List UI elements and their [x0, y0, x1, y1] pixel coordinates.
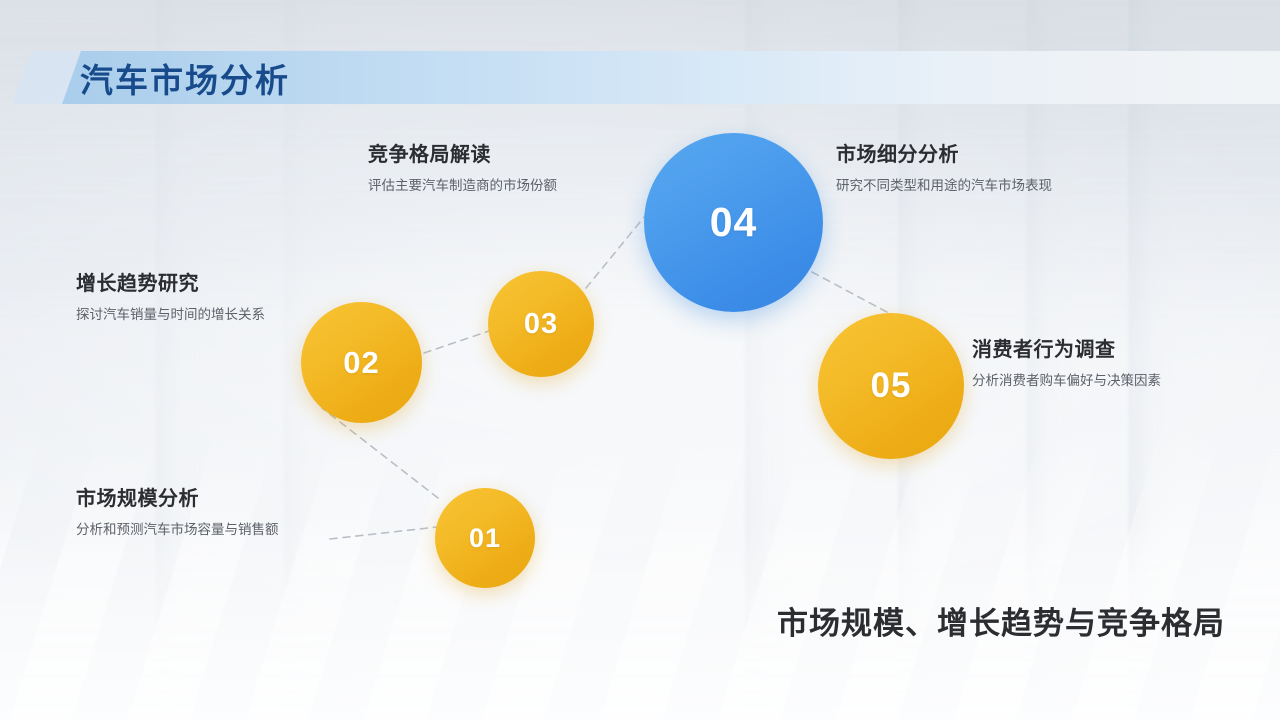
node-number-02: 02 [343, 345, 379, 381]
node-desc-01: 分析和预测汽车市场容量与销售额 [76, 520, 376, 541]
node-text-04: 市场细分分析 研究不同类型和用途的汽车市场表现 [836, 143, 1166, 197]
node-text-02: 增长趋势研究 探讨汽车销量与时间的增长关系 [76, 272, 291, 326]
node-circle-01[interactable]: 01 [435, 488, 535, 588]
node-text-03: 竞争格局解读 评估主要汽车制造商的市场份额 [368, 143, 668, 197]
node-circle-03[interactable]: 03 [488, 271, 594, 377]
node-desc-05: 分析消费者购车偏好与决策因素 [972, 371, 1272, 392]
node-circle-02[interactable]: 02 [301, 302, 422, 423]
node-heading-03: 竞争格局解读 [368, 143, 668, 167]
node-text-01: 市场规模分析 分析和预测汽车市场容量与销售额 [76, 487, 376, 541]
node-circle-04[interactable]: 04 [644, 133, 823, 312]
node-desc-04: 研究不同类型和用途的汽车市场表现 [836, 176, 1166, 197]
node-number-03: 03 [524, 308, 558, 341]
slide-subtitle: 市场规模、增长趋势与竞争格局 [777, 598, 1225, 643]
node-desc-02: 探讨汽车销量与时间的增长关系 [76, 305, 291, 326]
node-heading-05: 消费者行为调查 [972, 338, 1272, 362]
page-title: 汽车市场分析 [80, 50, 290, 106]
node-text-05: 消费者行为调查 分析消费者购车偏好与决策因素 [972, 338, 1272, 392]
node-number-04: 04 [710, 199, 758, 246]
node-heading-02: 增长趋势研究 [76, 272, 291, 296]
node-desc-03: 评估主要汽车制造商的市场份额 [368, 176, 668, 197]
node-circle-05[interactable]: 05 [818, 313, 964, 459]
node-heading-01: 市场规模分析 [76, 487, 376, 511]
node-heading-04: 市场细分分析 [836, 143, 1166, 167]
node-number-05: 05 [871, 366, 912, 406]
node-number-01: 01 [469, 523, 501, 554]
slide-canvas: 汽车市场分析 01 02 03 04 05 市场规模分析 分析和预测汽车市场容量… [0, 0, 1280, 720]
